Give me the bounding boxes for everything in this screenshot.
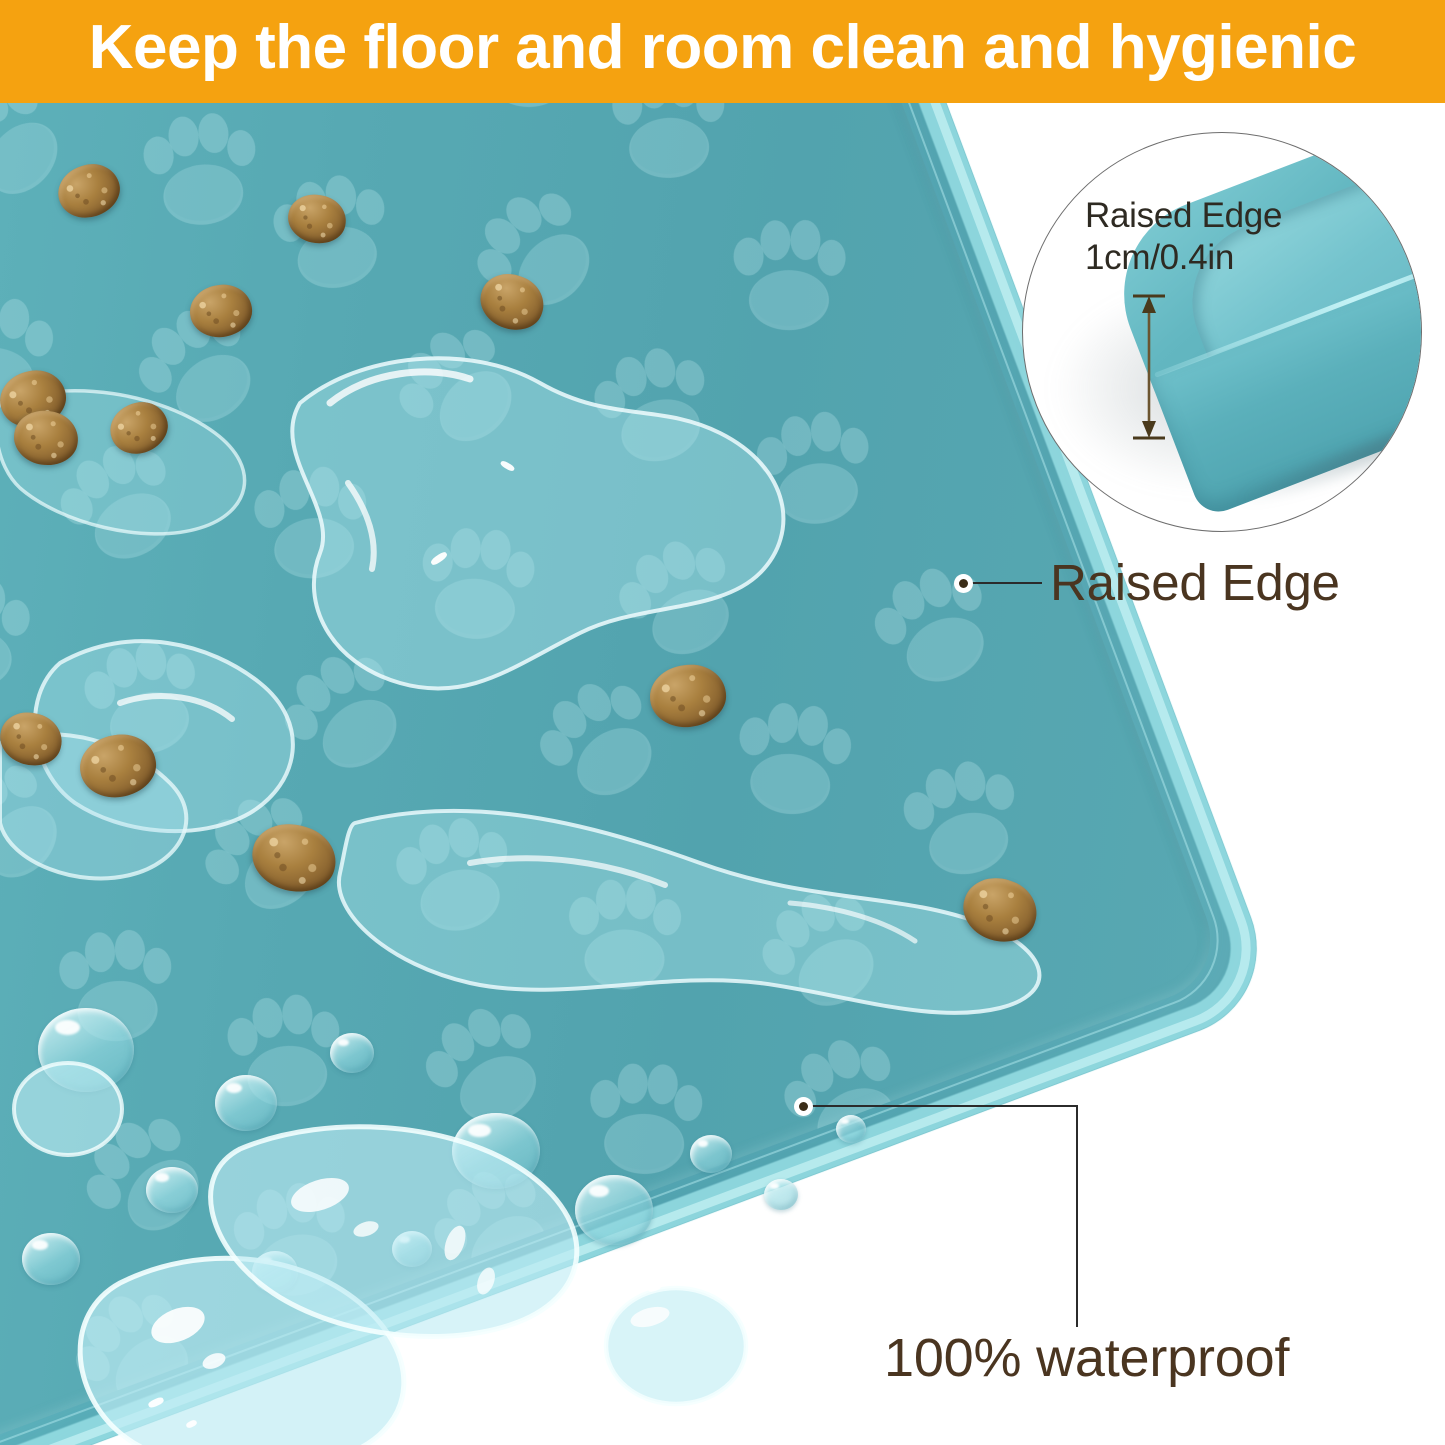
raised-edge-callout-label: Raised Edge (1050, 553, 1340, 612)
headline-text: Keep the floor and room clean and hygien… (0, 0, 1445, 103)
raised-edge-leader-line (972, 582, 1042, 584)
water-highlight (647, 1283, 661, 1293)
product-feature-image: Raised Edge 1cm/0.4in Raised Edge 100% w… (0, 0, 1445, 1445)
raised-edge-callout-dot (954, 574, 973, 593)
water-highlight (565, 1401, 580, 1411)
waterproof-callout-dot (794, 1097, 813, 1116)
headline-banner: Keep the floor and room clean and hygien… (0, 0, 1445, 103)
dimension-arrow (1131, 293, 1167, 441)
inset-label-line1: Raised Edge (1085, 195, 1282, 237)
raised-edge-zoom-inset: Raised Edge 1cm/0.4in (1022, 132, 1422, 532)
waterproof-leader-vertical (1076, 1105, 1078, 1327)
waterproof-leader-horizontal (812, 1105, 1078, 1107)
water-highlight (185, 1419, 197, 1429)
water-highlight (597, 1387, 608, 1395)
waterproof-callout-label: 100% waterproof (884, 1327, 1289, 1389)
inset-label-line2: 1cm/0.4in (1085, 237, 1282, 279)
inset-dimension-label: Raised Edge 1cm/0.4in (1085, 195, 1282, 279)
